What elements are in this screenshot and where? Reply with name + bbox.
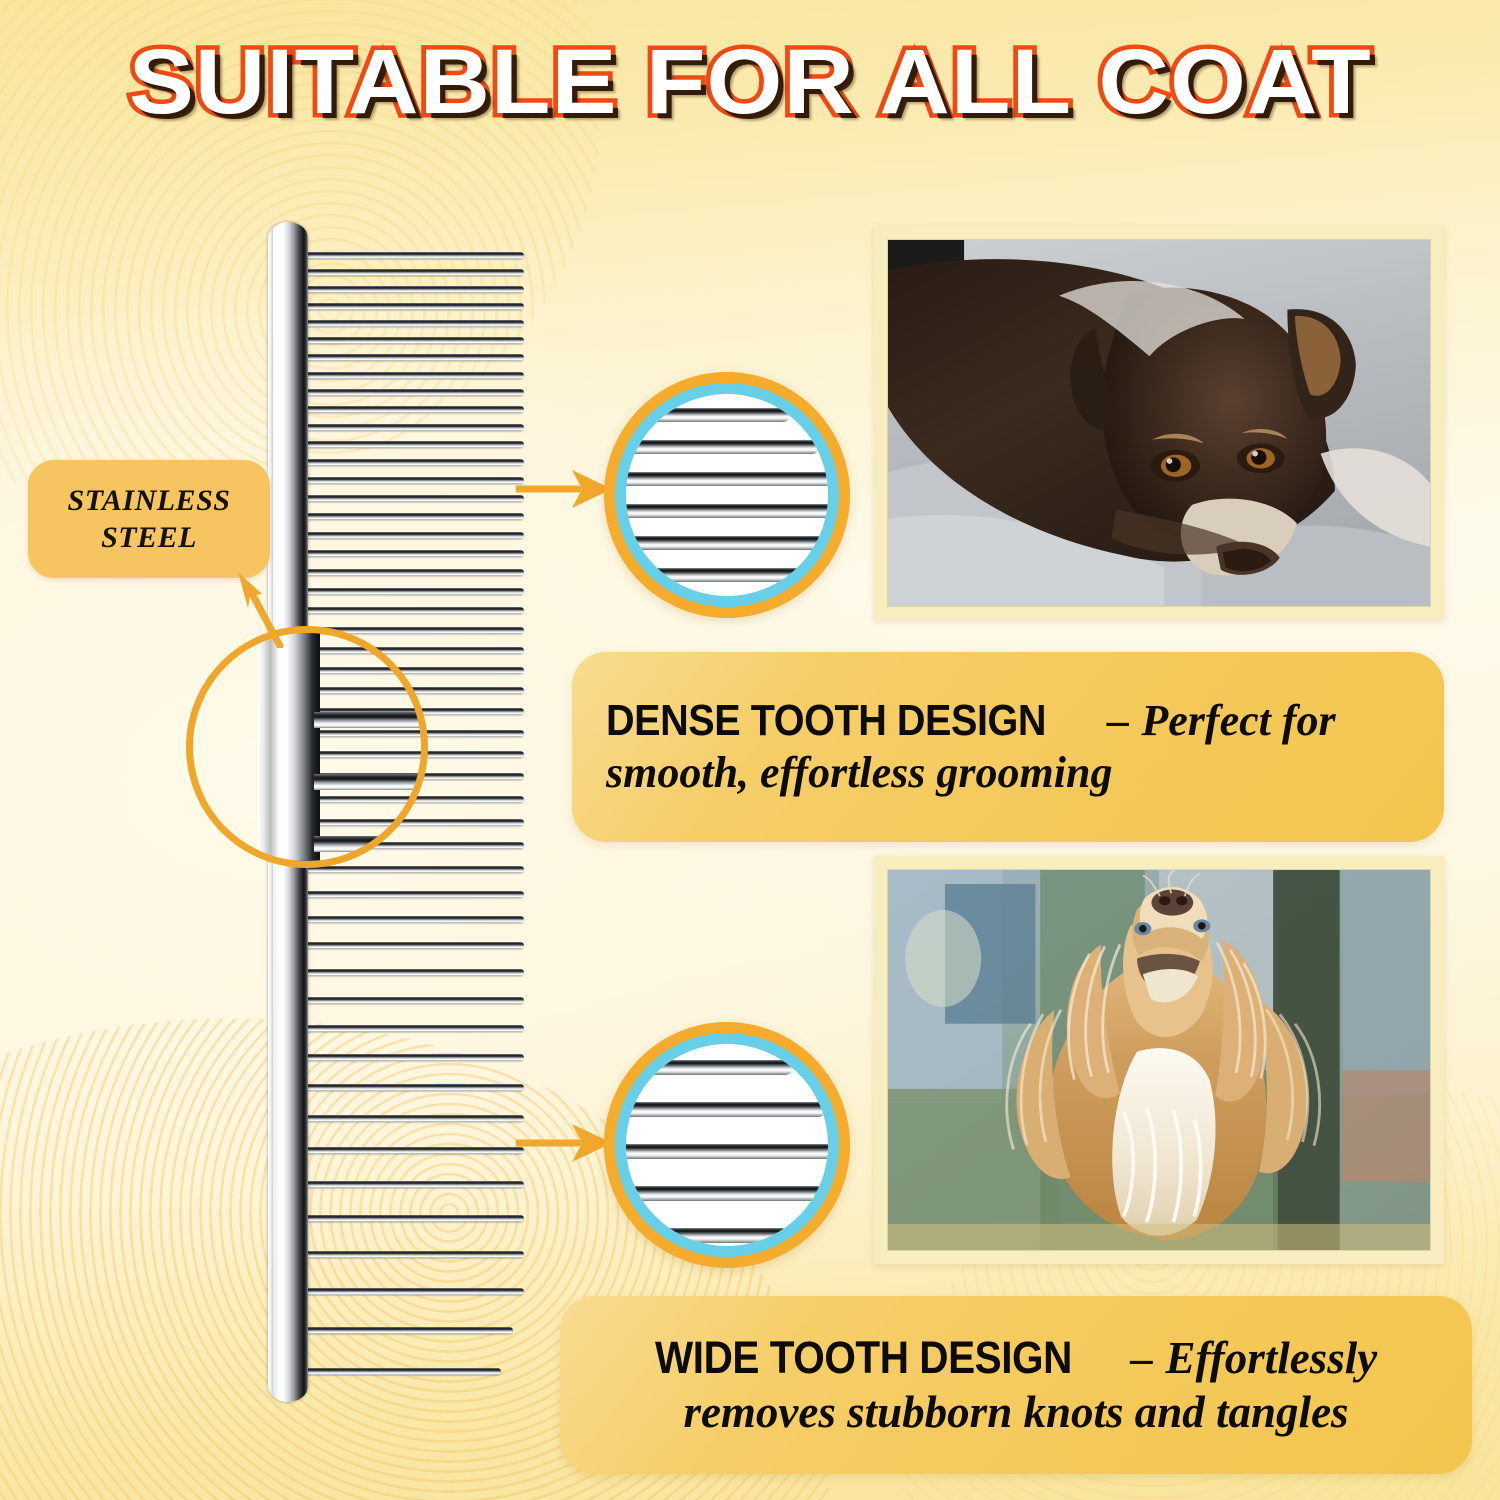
comb-tooth — [296, 969, 524, 976]
magnifier-inner-ring — [615, 383, 839, 607]
magnified-comb-tooth — [626, 536, 825, 550]
comb-tooth — [296, 513, 524, 520]
comb-tooth — [296, 1181, 524, 1188]
comb-tooth — [296, 303, 524, 310]
magnified-comb-tooth — [626, 568, 802, 582]
magnified-comb-tooth — [626, 1228, 789, 1243]
stainless-steel-label: STAINLESS STEEL — [28, 460, 270, 578]
dense-tooth-caption-bold: DENSE TOOTH DESIGN — [606, 695, 1046, 747]
arrow-to-dense-magnifier-icon — [516, 458, 616, 520]
magnified-comb-tooth — [626, 1144, 828, 1159]
comb-tooth — [296, 997, 524, 1004]
comb-tooth — [296, 372, 524, 379]
comb-tooth — [296, 424, 524, 431]
dense-tooth-magnifier — [604, 372, 850, 618]
comb-tooth — [296, 607, 524, 614]
infographic-stage: SUITABLE FOR ALL COAT STAINLESS STEEL — [0, 0, 1500, 1500]
magnifier-inner-ring — [615, 1033, 839, 1257]
comb-tooth — [296, 459, 524, 466]
comb-tooth — [296, 1215, 524, 1222]
stainless-steel-label-line1: STAINLESS — [68, 482, 231, 520]
dense-tooth-caption-dash: – — [1107, 696, 1129, 745]
comb-tooth — [296, 1327, 513, 1334]
comb-tooth — [296, 891, 524, 898]
handle-magnifier-lens — [186, 626, 428, 868]
handle-tooth-closeup — [314, 712, 428, 728]
comb-tooth — [296, 320, 524, 327]
comb-tooth — [296, 866, 524, 873]
magnified-comb-tooth — [626, 1186, 824, 1201]
handle-bar-closeup — [258, 626, 320, 868]
wide-tooth-caption-text: WIDE TOOTH DESIGN – Effortlessly removes… — [594, 1331, 1438, 1439]
comb-tooth — [296, 1288, 524, 1295]
comb-tooth — [296, 406, 524, 413]
comb-tooth — [296, 916, 524, 923]
wide-tooth-caption-bold: WIDE TOOTH DESIGN — [655, 1331, 1072, 1384]
wide-tooth-caption-dash: – — [1131, 1333, 1154, 1383]
comb-tooth — [296, 286, 524, 293]
headline-banner: SUITABLE FOR ALL COAT — [0, 28, 1500, 136]
wide-tooth-caption-box: WIDE TOOTH DESIGN – Effortlessly removes… — [560, 1296, 1472, 1474]
magnifier-lens — [626, 1044, 828, 1246]
comb-tooth — [296, 532, 524, 539]
dense-tooth-caption-box: DENSE TOOTH DESIGN – Perfect for smooth,… — [572, 652, 1444, 842]
comb-tooth — [296, 588, 524, 595]
comb-tooth — [296, 942, 524, 949]
magnifier-lens — [626, 394, 828, 596]
comb-tooth — [296, 1054, 524, 1061]
comb-tooth — [296, 252, 524, 259]
stainless-steel-label-line2: STEEL — [101, 519, 197, 557]
comb-tooth — [296, 1147, 524, 1154]
comb-tooth — [296, 441, 524, 448]
dense-tooth-caption-text: DENSE TOOTH DESIGN – Perfect for smooth,… — [606, 695, 1410, 799]
comb-tooth — [296, 1084, 524, 1091]
magnified-comb-tooth — [626, 472, 828, 486]
handle-tooth-closeup — [314, 836, 428, 852]
comb-tooth — [296, 1115, 524, 1122]
comb-tooth — [296, 1025, 524, 1032]
comb-tooth — [296, 269, 524, 276]
comb-tooth — [296, 1368, 501, 1375]
dog-photo-top-frame — [874, 226, 1444, 620]
comb-tooth — [296, 477, 524, 484]
dog-photo-bottom-frame — [874, 856, 1444, 1264]
dog-photo-top — [887, 239, 1431, 607]
magnified-comb-tooth — [626, 408, 790, 422]
magnified-comb-tooth — [626, 440, 819, 454]
magnified-comb-tooth — [626, 1102, 826, 1117]
comb-tooth — [296, 389, 524, 396]
comb-tooth — [296, 1251, 524, 1258]
comb-tooth — [296, 354, 524, 361]
dog-photo-bottom — [887, 869, 1431, 1251]
comb-tooth — [296, 569, 524, 576]
handle-tooth-closeup — [314, 774, 428, 790]
wide-tooth-magnifier — [604, 1022, 850, 1268]
arrow-to-wide-magnifier-icon — [516, 1112, 616, 1174]
magnified-comb-tooth — [626, 1060, 793, 1075]
stainless-steel-arrow-icon — [228, 568, 288, 648]
magnified-comb-tooth — [626, 504, 828, 518]
page-title: SUITABLE FOR ALL COAT — [129, 36, 1372, 128]
comb-tooth — [296, 550, 524, 557]
comb-tooth — [296, 337, 524, 344]
comb-tooth — [296, 495, 524, 502]
handle-magnifier-ring — [186, 626, 428, 868]
